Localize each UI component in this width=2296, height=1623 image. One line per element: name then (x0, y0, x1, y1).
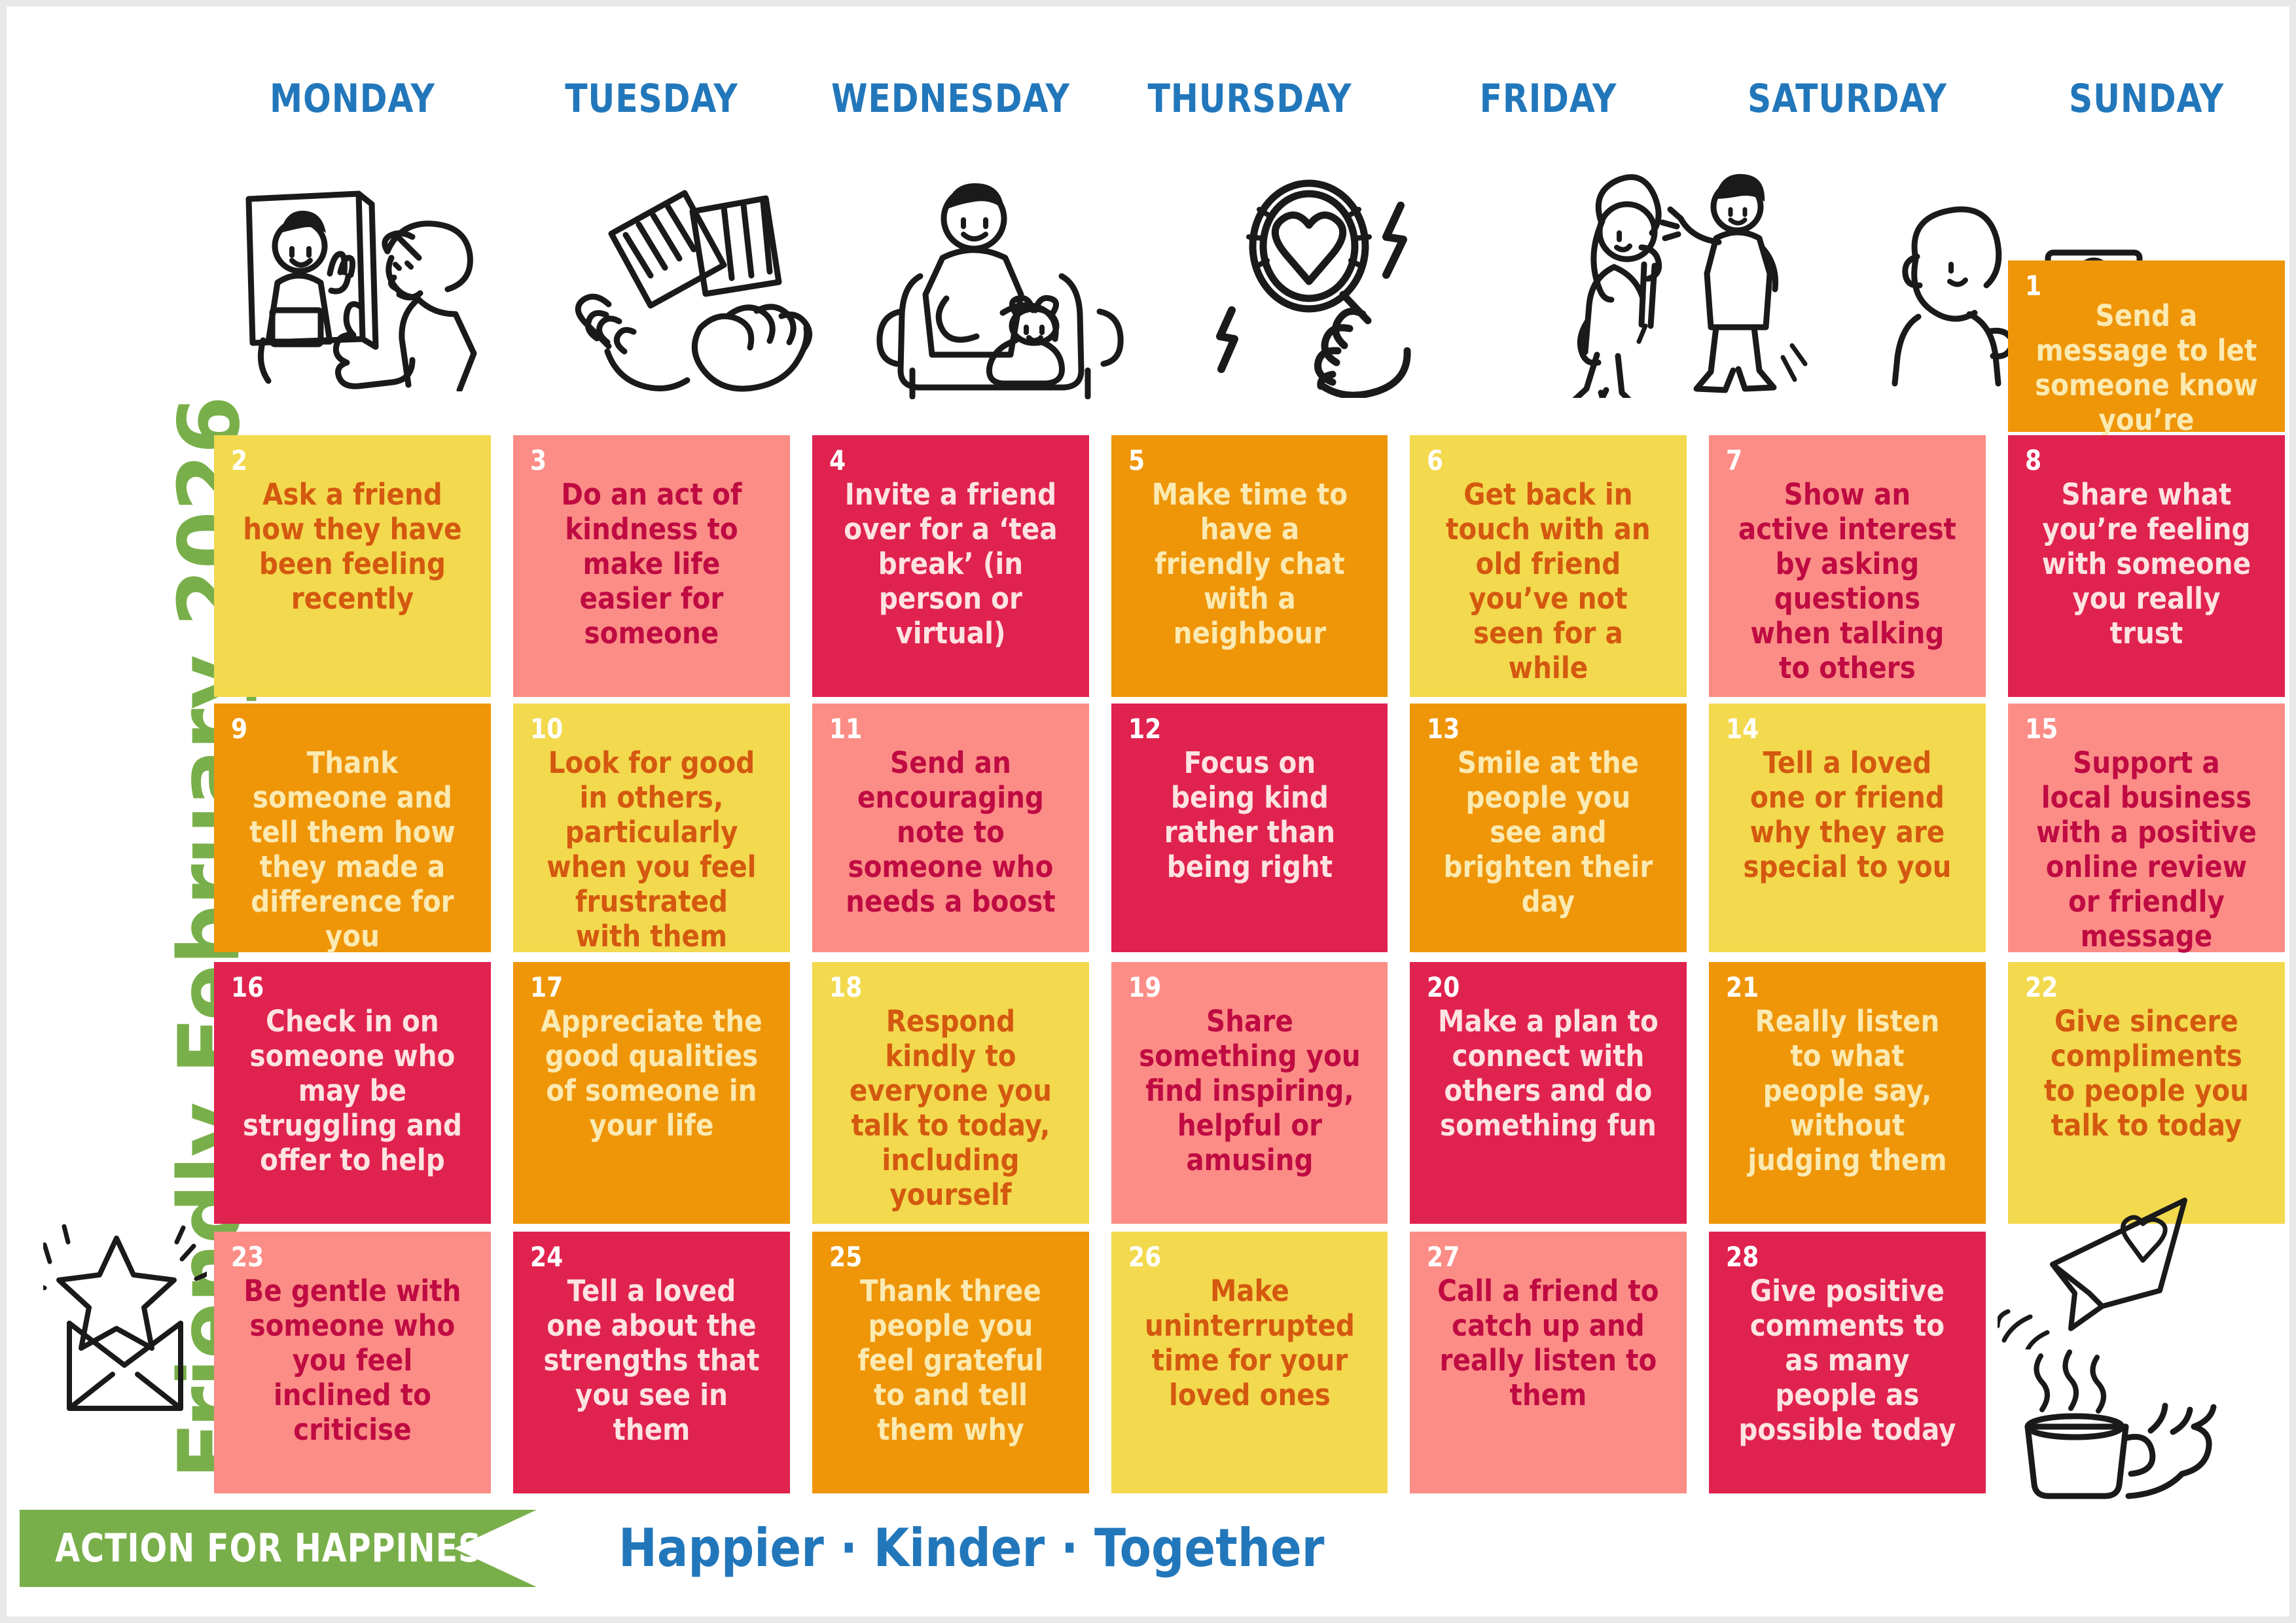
day-action-text: Ask a friend how they have been feeling … (238, 477, 468, 616)
day-number: 1 (2025, 270, 2041, 302)
weekday-header-sunday: SUNDAY (2021, 76, 2272, 128)
day-number: 2 (231, 444, 247, 476)
calendar-cell-day-11[interactable]: 11 Send an encouraging note to someone w… (812, 704, 1089, 952)
week-row-0: 1 Send a message to let someone know you… (203, 170, 2296, 432)
calendar-cell-day-1[interactable]: 1 Send a message to let someone know you… (2008, 260, 2285, 432)
week-row-4: 23 Be gentle with someone who you feel i… (203, 1232, 2296, 1493)
calendar-cell-empty (214, 170, 491, 432)
calendar-cell-empty (2008, 1232, 2285, 1493)
day-number: 8 (2025, 444, 2041, 476)
day-number: 3 (530, 444, 547, 476)
day-action-text: Look for good in others, particularly wh… (536, 745, 766, 954)
calendar-cell-day-24[interactable]: 24 Tell a loved one about the strengths … (513, 1232, 790, 1493)
calendar-cell-day-17[interactable]: 17 Appreciate the good qualities of some… (513, 962, 790, 1224)
day-number: 17 (530, 971, 563, 1003)
day-action-text: Respond kindly to everyone you talk to t… (835, 1004, 1066, 1213)
day-number: 21 (1726, 971, 1759, 1003)
calendar-cell-day-28[interactable]: 28 Give positive comments to as many peo… (1709, 1232, 1986, 1493)
day-action-text: Thank three people you feel grateful to … (835, 1274, 1066, 1447)
calendar-cell-day-2[interactable]: 2 Ask a friend how they have been feelin… (214, 435, 491, 697)
weekday-header-friday: FRIDAY (1423, 76, 1674, 128)
day-action-text: Get back in touch with an old friend you… (1433, 477, 1664, 686)
weekday-header-tuesday: TUESDAY (526, 76, 777, 128)
calendar-cell-day-21[interactable]: 21 Really listen to what people say, wit… (1709, 962, 1986, 1224)
day-action-text: Share what you’re feeling with someone y… (2032, 477, 2262, 651)
day-action-text: Tell a loved one or friend why they are … (1732, 745, 1963, 884)
day-number: 9 (231, 713, 247, 745)
day-action-text: Really listen to what people say, withou… (1732, 1004, 1963, 1177)
day-number: 13 (1427, 713, 1460, 745)
calendar-cell-day-4[interactable]: 4 Invite a friend over for a ‘tea break’… (812, 435, 1089, 697)
calendar-cell-day-23[interactable]: 23 Be gentle with someone who you feel i… (214, 1232, 491, 1493)
calendar-cell-day-22[interactable]: 22 Give sincere compliments to people yo… (2008, 962, 2285, 1224)
day-action-text: Make uninterrupted time for your loved o… (1134, 1274, 1365, 1412)
day-action-text: Send an encouraging note to someone who … (835, 745, 1066, 919)
day-action-text: Make a plan to connect with others and d… (1433, 1004, 1664, 1143)
day-number: 15 (2025, 713, 2058, 745)
calendar-cell-day-9[interactable]: 9 Thank someone and tell them how they m… (214, 704, 491, 952)
day-action-text: Do an act of kindness to make life easie… (536, 477, 766, 651)
day-number: 26 (1128, 1241, 1161, 1273)
week-row-2: 9 Thank someone and tell them how they m… (203, 704, 2296, 952)
weekday-header-row: MONDAY TUESDAY WEDNESDAY THURSDAY FRIDAY… (203, 76, 2296, 128)
calendar-cell-day-15[interactable]: 15 Support a local business with a posit… (2008, 704, 2285, 952)
footer: ACTION FOR HAPPINESS Happier · Kinder · … (7, 1495, 2289, 1620)
day-number: 28 (1726, 1241, 1759, 1273)
week-row-1: 2 Ask a friend how they have been feelin… (203, 435, 2296, 697)
day-action-text: Be gentle with someone who you feel incl… (238, 1274, 468, 1447)
day-action-text: Smile at the people you see and brighten… (1433, 745, 1664, 919)
day-action-text: Call a friend to catch up and really lis… (1433, 1274, 1664, 1412)
calendar-grid: MONDAY TUESDAY WEDNESDAY THURSDAY FRIDAY… (203, 7, 2296, 1492)
day-action-text: Check in on someone who may be strugglin… (238, 1004, 468, 1177)
calendar-cell-day-20[interactable]: 20 Make a plan to connect with others an… (1410, 962, 1687, 1224)
day-action-text: Focus on being kind rather than being ri… (1134, 745, 1365, 884)
day-number: 11 (829, 713, 862, 745)
tagline: Happier · Kinder · Together (619, 1518, 1324, 1578)
calendar-cell-day-27[interactable]: 27 Call a friend to catch up and really … (1410, 1232, 1687, 1493)
day-number: 24 (530, 1241, 563, 1273)
calendar-cell-day-25[interactable]: 25 Thank three people you feel grateful … (812, 1232, 1089, 1493)
calendar-cell-empty (1111, 170, 1388, 432)
calendar-cell-day-12[interactable]: 12 Focus on being kind rather than being… (1111, 704, 1388, 952)
calendar-cell-day-16[interactable]: 16 Check in on someone who may be strugg… (214, 962, 491, 1224)
day-action-text: Support a local business with a positive… (2032, 745, 2262, 954)
weekday-header-thursday: THURSDAY (1124, 76, 1375, 128)
day-number: 27 (1427, 1241, 1460, 1273)
day-number: 20 (1427, 971, 1460, 1003)
day-number: 22 (2025, 971, 2058, 1003)
calendar-cell-empty (513, 170, 790, 432)
calendar-cell-day-3[interactable]: 3 Do an act of kindness to make life eas… (513, 435, 790, 697)
day-action-text: Tell a loved one about the strengths tha… (536, 1274, 766, 1447)
day-action-text: Make time to have a friendly chat with a… (1134, 477, 1365, 651)
day-number: 19 (1128, 971, 1161, 1003)
day-action-text: Give sincere compliments to people you t… (2032, 1004, 2262, 1143)
calendar-cell-day-26[interactable]: 26 Make uninterrupted time for your love… (1111, 1232, 1388, 1493)
calendar-cell-day-14[interactable]: 14 Tell a loved one or friend why they a… (1709, 704, 1986, 952)
day-number: 25 (829, 1241, 862, 1273)
calendar-cell-day-19[interactable]: 19 Share something you find inspiring, h… (1111, 962, 1388, 1224)
calendar-cell-day-10[interactable]: 10 Look for good in others, particularly… (513, 704, 790, 952)
day-action-text: Invite a friend over for a ‘tea break’ (… (835, 477, 1066, 651)
day-number: 4 (829, 444, 846, 476)
calendar-cell-empty (1709, 170, 1986, 432)
title-container: Friendly February 2026 (7, 7, 203, 1486)
calendar-cell-day-7[interactable]: 7 Show an active interest by asking ques… (1709, 435, 1986, 697)
day-action-text: Show an active interest by asking questi… (1732, 477, 1963, 686)
day-number: 18 (829, 971, 862, 1003)
day-action-text: Thank someone and tell them how they mad… (238, 745, 468, 954)
calendar-cell-empty (1410, 170, 1687, 432)
calendar-cell-day-13[interactable]: 13 Smile at the people you see and brigh… (1410, 704, 1687, 952)
day-number: 10 (530, 713, 563, 745)
day-number: 12 (1128, 713, 1161, 745)
weekday-header-monday: MONDAY (227, 76, 478, 128)
brand-name: ACTION FOR HAPPINESS (20, 1525, 504, 1571)
day-number: 16 (231, 971, 264, 1003)
calendar-page: Friendly February 2026 MONDAY TUESDAY WE… (0, 0, 2296, 1623)
day-number: 14 (1726, 713, 1759, 745)
calendar-cell-day-5[interactable]: 5 Make time to have a friendly chat with… (1111, 435, 1388, 697)
day-action-text: Appreciate the good qualities of someone… (536, 1004, 766, 1143)
day-action-text: Give positive comments to as many people… (1732, 1274, 1963, 1447)
calendar-cell-day-6[interactable]: 6 Get back in touch with an old friend y… (1410, 435, 1687, 697)
day-number: 5 (1128, 444, 1145, 476)
day-number: 7 (1726, 444, 1742, 476)
calendar-cell-day-8[interactable]: 8 Share what you’re feeling with someone… (2008, 435, 2285, 697)
week-row-3: 16 Check in on someone who may be strugg… (203, 962, 2296, 1224)
calendar-cell-day-18[interactable]: 18 Respond kindly to everyone you talk t… (812, 962, 1089, 1224)
day-action-text: Share something you find inspiring, help… (1134, 1004, 1365, 1177)
weekday-header-wednesday: WEDNESDAY (825, 76, 1076, 128)
day-number: 6 (1427, 444, 1443, 476)
brand-banner[interactable]: ACTION FOR HAPPINESS (20, 1510, 537, 1587)
day-number: 23 (231, 1241, 264, 1273)
weekday-header-saturday: SATURDAY (1722, 76, 1973, 128)
calendar-cell-empty (812, 170, 1089, 432)
